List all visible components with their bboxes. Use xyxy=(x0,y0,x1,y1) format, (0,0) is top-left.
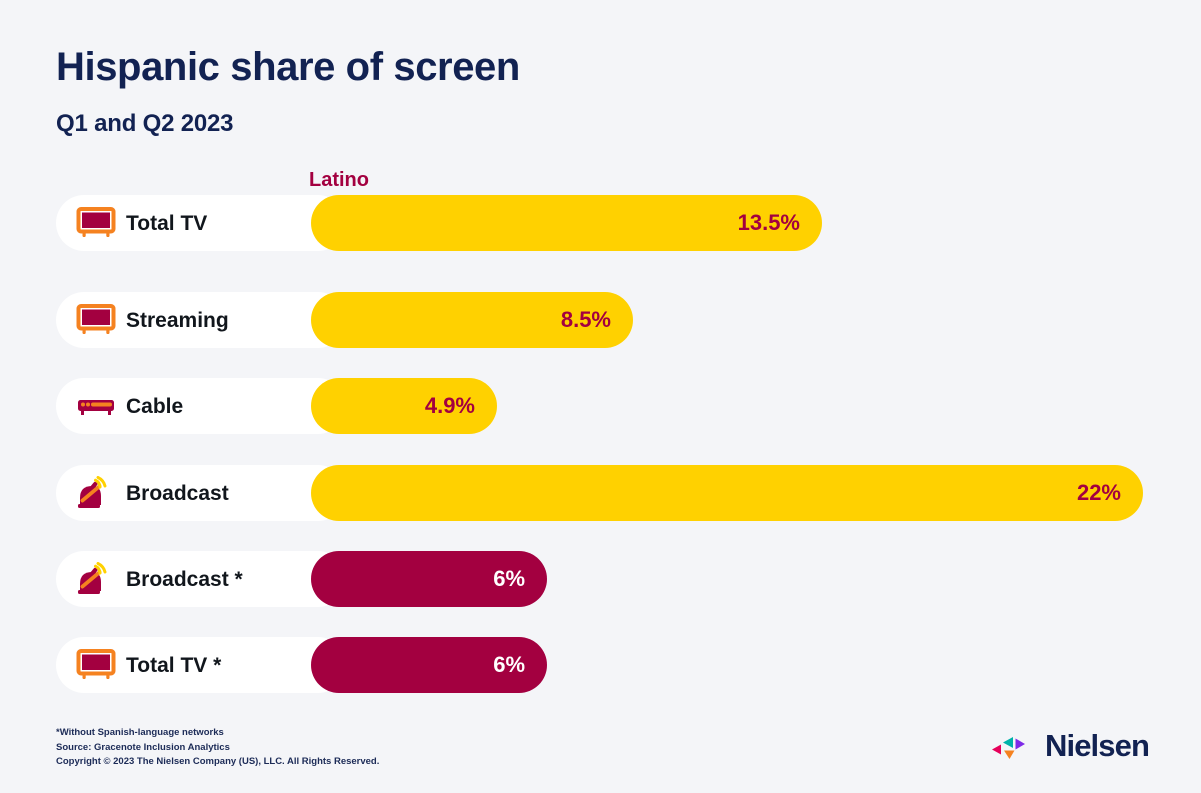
tv-icon xyxy=(76,303,116,337)
bar-value-label: 4.9% xyxy=(425,395,475,417)
category-label: Total TV * xyxy=(126,655,221,676)
bar-row: Streaming8.5% xyxy=(0,292,1201,348)
category-label: Total TV xyxy=(126,213,207,234)
bar-value-label: 22% xyxy=(1077,482,1121,504)
bar-chart-plot-area: Total TV13.5%Streaming8.5%Cable4.9%Broad… xyxy=(0,0,1201,793)
bar-broadcast[interactable]: 6% xyxy=(311,551,547,607)
category-label: Cable xyxy=(126,396,183,417)
category-label-pill[interactable]: Broadcast * xyxy=(56,551,346,607)
category-label: Broadcast * xyxy=(126,569,243,590)
category-label-pill[interactable]: Streaming xyxy=(56,292,346,348)
nielsen-logo: Nielsen xyxy=(992,730,1149,761)
tv-icon xyxy=(76,206,116,240)
bar-row: Broadcast *6% xyxy=(0,551,1201,607)
category-label-pill[interactable]: Total TV xyxy=(56,195,346,251)
cable-box-icon xyxy=(76,389,116,423)
bar-value-label: 6% xyxy=(493,568,525,590)
bar-row: Total TV13.5% xyxy=(0,195,1201,251)
bar-total-tv[interactable]: 6% xyxy=(311,637,547,693)
nielsen-logo-mark-icon xyxy=(992,731,1036,761)
bar-value-label: 13.5% xyxy=(738,212,800,234)
bar-streaming[interactable]: 8.5% xyxy=(311,292,633,348)
nielsen-wordmark: Nielsen xyxy=(1045,730,1149,761)
bar-row: Total TV *6% xyxy=(0,637,1201,693)
category-label: Streaming xyxy=(126,310,229,331)
satellite-dish-icon xyxy=(76,562,116,596)
bar-value-label: 6% xyxy=(493,654,525,676)
footnotes: *Without Spanish-language networks Sourc… xyxy=(56,726,379,770)
bar-value-label: 8.5% xyxy=(561,309,611,331)
bar-total-tv[interactable]: 13.5% xyxy=(311,195,822,251)
bar-row: Broadcast22% xyxy=(0,465,1201,521)
category-label: Broadcast xyxy=(126,483,229,504)
footnote-line-3: Copyright © 2023 The Nielsen Company (US… xyxy=(56,755,379,770)
category-label-pill[interactable]: Total TV * xyxy=(56,637,346,693)
satellite-dish-icon xyxy=(76,476,116,510)
footnote-line-2: Source: Gracenote Inclusion Analytics xyxy=(56,741,379,756)
tv-icon xyxy=(76,648,116,682)
footnote-line-1: *Without Spanish-language networks xyxy=(56,726,379,741)
bar-cable[interactable]: 4.9% xyxy=(311,378,497,434)
category-label-pill[interactable]: Broadcast xyxy=(56,465,346,521)
bar-broadcast[interactable]: 22% xyxy=(311,465,1143,521)
bar-row: Cable4.9% xyxy=(0,378,1201,434)
category-label-pill[interactable]: Cable xyxy=(56,378,346,434)
